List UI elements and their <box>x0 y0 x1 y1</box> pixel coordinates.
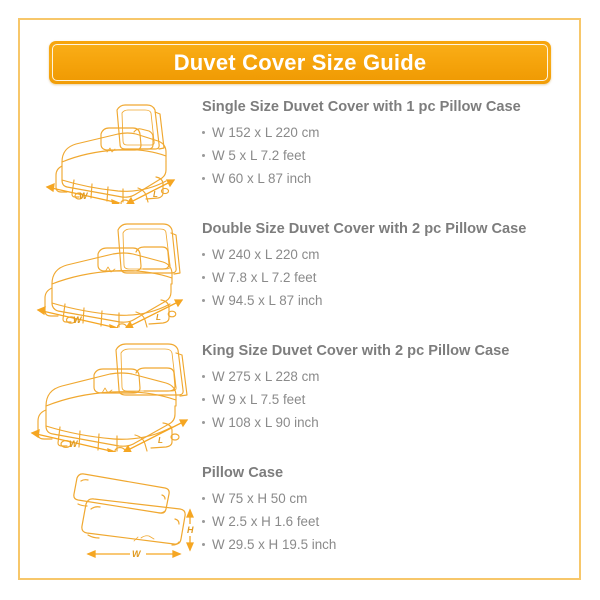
bed-single-icon: W L <box>22 96 202 204</box>
spec-text: W 240 x L 220 cm <box>212 248 319 261</box>
spec-text: W 60 x L 87 inch <box>212 172 311 185</box>
spec-text: W 108 x L 90 inch <box>212 416 319 429</box>
spec-text: W 94.5 x L 87 inch <box>212 294 322 307</box>
spec-row: W 60 x L 87 inch <box>202 172 578 185</box>
spec-row: W 9 x L 7.5 feet <box>202 393 578 406</box>
item-title: Pillow Case <box>202 466 578 481</box>
spec-row: W 75 x H 50 cm <box>202 492 578 505</box>
title-banner: Duvet Cover Size Guide <box>49 41 551 84</box>
bullet-dot <box>202 299 205 302</box>
spec-row: W 240 x L 220 cm <box>202 248 578 261</box>
bullet-dot <box>202 398 205 401</box>
spec-row: W 2.5 x H 1.6 feet <box>202 515 578 528</box>
spec-row: W 29.5 x H 19.5 inch <box>202 538 578 551</box>
title-banner-inner: Duvet Cover Size Guide <box>52 44 548 81</box>
spec-row: W 7.8 x L 7.2 feet <box>202 271 578 284</box>
height-label: H <box>187 525 194 535</box>
spec-text: W 9 x L 7.5 feet <box>212 393 305 406</box>
bullet-dot <box>202 520 205 523</box>
size-row-pillow: W H Pillow Case W 75 x H 50 cm W 2.5 x H… <box>22 462 578 568</box>
bullet-dot <box>202 177 205 180</box>
size-row-king: W L King Size Duvet Cover with 2 pc Pill… <box>22 340 578 452</box>
size-info-single: Single Size Duvet Cover with 1 pc Pillow… <box>202 96 578 196</box>
bullet-dot <box>202 543 205 546</box>
bed-king-icon: W L <box>22 340 202 452</box>
size-info-pillow: Pillow Case W 75 x H 50 cm W 2.5 x H 1.6… <box>202 462 578 562</box>
item-title: Single Size Duvet Cover with 1 pc Pillow… <box>202 100 578 115</box>
size-guide-poster: Duvet Cover Size Guide <box>0 0 600 600</box>
spec-text: W 29.5 x H 19.5 inch <box>212 538 336 551</box>
size-row-single: W L Single Size Duvet Cover with 1 pc Pi… <box>22 96 578 204</box>
bullet-dot <box>202 497 205 500</box>
length-label: L <box>153 190 158 199</box>
bullet-dot <box>202 131 205 134</box>
bed-double-icon: W L <box>22 218 202 328</box>
bullet-dot <box>202 421 205 424</box>
spec-row: W 275 x L 228 cm <box>202 370 578 383</box>
size-row-double: W L Double Size Duvet Cover with 2 pc Pi… <box>22 218 578 328</box>
item-title: King Size Duvet Cover with 2 pc Pillow C… <box>202 344 578 359</box>
spec-text: W 5 x L 7.2 feet <box>212 149 305 162</box>
item-title: Double Size Duvet Cover with 2 pc Pillow… <box>202 222 578 237</box>
pillow-pair-icon: W H <box>22 462 202 568</box>
spec-text: W 2.5 x H 1.6 feet <box>212 515 319 528</box>
size-info-double: Double Size Duvet Cover with 2 pc Pillow… <box>202 218 578 318</box>
length-label: L <box>158 436 163 445</box>
spec-row: W 108 x L 90 inch <box>202 416 578 429</box>
spec-text: W 152 x L 220 cm <box>212 126 319 139</box>
bullet-dot <box>202 154 205 157</box>
spec-row: W 5 x L 7.2 feet <box>202 149 578 162</box>
page-title: Duvet Cover Size Guide <box>174 52 427 74</box>
bullet-dot <box>202 276 205 279</box>
spec-text: W 75 x H 50 cm <box>212 492 307 505</box>
spec-text: W 7.8 x L 7.2 feet <box>212 271 316 284</box>
spec-row: W 152 x L 220 cm <box>202 126 578 139</box>
bullet-dot <box>202 253 205 256</box>
spec-text: W 275 x L 228 cm <box>212 370 319 383</box>
spec-row: W 94.5 x L 87 inch <box>202 294 578 307</box>
size-info-king: King Size Duvet Cover with 2 pc Pillow C… <box>202 340 578 440</box>
bullet-dot <box>202 375 205 378</box>
length-label: L <box>156 313 161 322</box>
